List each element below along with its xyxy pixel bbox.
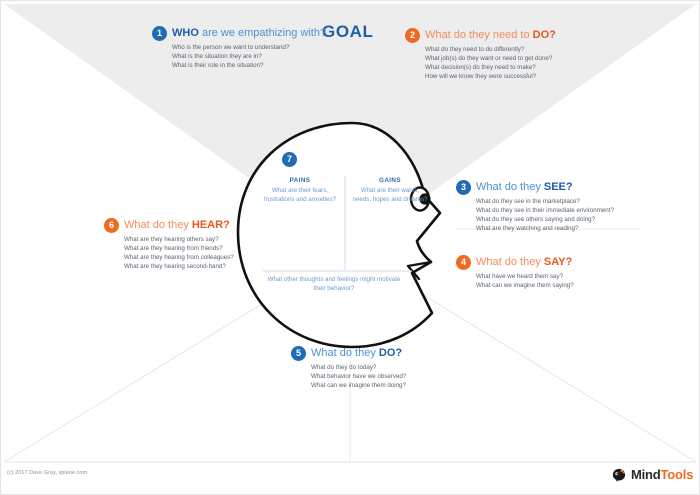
question-item: What do they do today?	[311, 363, 406, 372]
question-item: What decision(s) do they need to make?	[425, 63, 552, 72]
section-badge-6: 6	[104, 218, 119, 233]
logo-tools-text: Tools	[661, 467, 694, 482]
question-item: What are they hearing others say?	[124, 235, 234, 244]
section-title-1-lead: WHO	[172, 27, 199, 39]
section-badge-1: 1	[152, 26, 167, 41]
background-artwork	[0, 0, 700, 495]
pains-line-1: What are their fears,	[258, 187, 342, 196]
question-item: What are they watching and reading?	[476, 224, 614, 233]
pains-subtext: What are their fears, frustrations and a…	[258, 187, 342, 204]
question-item: What can we imagine them doing?	[311, 381, 406, 390]
section-questions-2: What do they need to do differently? Wha…	[425, 45, 552, 81]
question-item: What are they hearing from colleagues?	[124, 253, 234, 262]
pains-line-2: frustrations and anxieties?	[258, 196, 342, 205]
goal-label: GOAL	[322, 22, 374, 42]
copyright-text: (c) 2017 Dave Gray, xplane.com	[7, 470, 87, 476]
section-badge-5: 5	[291, 346, 306, 361]
gains-heading: GAINS	[348, 177, 432, 184]
section-title-2-lead: What do they need to	[425, 29, 533, 41]
question-item: What do they see in the marketplace?	[476, 197, 614, 206]
section-questions-3: What do they see in the marketplace? Wha…	[476, 197, 614, 233]
question-item: Who is the person we want to understand?	[172, 43, 289, 52]
question-item: What do they see others saying and doing…	[476, 215, 614, 224]
question-item: What is their role in the situation?	[172, 61, 289, 70]
section-questions-4: What have we heard them say? What can we…	[476, 272, 574, 290]
motivate-text: What other thoughts and feelings might m…	[264, 276, 404, 293]
question-item: What job(s) do they want or need to get …	[425, 54, 552, 63]
section-title-2-rest: DO?	[533, 29, 556, 41]
section-title-5: What do they DO?	[311, 347, 402, 359]
motivate-line-1: What other thoughts and feelings might m…	[264, 276, 404, 285]
mindtools-mark-icon	[612, 468, 626, 482]
section-title-5-rest: DO?	[379, 347, 402, 359]
question-item: What are they hearing from friends?	[124, 244, 234, 253]
section-badge-3: 3	[456, 180, 471, 195]
section-title-4-lead: What do they	[476, 256, 544, 268]
section-title-3: What do they SEE?	[476, 181, 573, 193]
question-item: What have we heard them say?	[476, 272, 574, 281]
section-title-1: WHO are we empathizing with?	[172, 27, 326, 39]
gains-line-2: needs, hopes and dreams?	[348, 196, 432, 205]
gains-column: GAINS What are their wants, needs, hopes…	[348, 177, 432, 204]
pains-column: PAINS What are their fears, frustrations…	[258, 177, 342, 204]
section-questions-1: Who is the person we want to understand?…	[172, 43, 289, 70]
section-title-6-rest: HEAR?	[192, 219, 230, 231]
pains-heading: PAINS	[258, 177, 342, 184]
gains-subtext: What are their wants, needs, hopes and d…	[348, 187, 432, 204]
question-item: What behavior have we observed?	[311, 372, 406, 381]
question-item: What can we imagine them saying?	[476, 281, 574, 290]
section-badge-7: 7	[282, 152, 297, 167]
question-item: What do they need to do differently?	[425, 45, 552, 54]
section-title-2: What do they need to DO?	[425, 29, 556, 41]
logo-mind-text: Mind	[631, 467, 661, 482]
section-badge-4: 4	[456, 255, 471, 270]
section-title-5-lead: What do they	[311, 347, 379, 359]
section-questions-6: What are they hearing others say? What a…	[124, 235, 234, 271]
question-item: What is the situation they are in?	[172, 52, 289, 61]
question-item: How will we know they were successful?	[425, 72, 552, 81]
question-item: What are they hearing second-hand?	[124, 262, 234, 271]
section-title-1-rest: are we empathizing with?	[199, 27, 326, 39]
question-item: What do they see in their immediate envi…	[476, 206, 614, 215]
section-title-3-rest: SEE?	[544, 181, 573, 193]
section-title-6-lead: What do they	[124, 219, 192, 231]
section-questions-5: What do they do today? What behavior hav…	[311, 363, 406, 390]
gains-line-1: What are their wants,	[348, 187, 432, 196]
section-title-4-rest: SAY?	[544, 256, 572, 268]
section-title-6: What do they HEAR?	[124, 219, 230, 231]
motivate-line-2: their behavior?	[264, 285, 404, 294]
mindtools-wordmark: MindTools	[631, 467, 693, 482]
section-badge-2: 2	[405, 28, 420, 43]
section-title-3-lead: What do they	[476, 181, 544, 193]
section-title-4: What do they SAY?	[476, 256, 572, 268]
empathy-map-canvas: GOAL 1 WHO are we empathizing with? Who …	[0, 0, 700, 495]
